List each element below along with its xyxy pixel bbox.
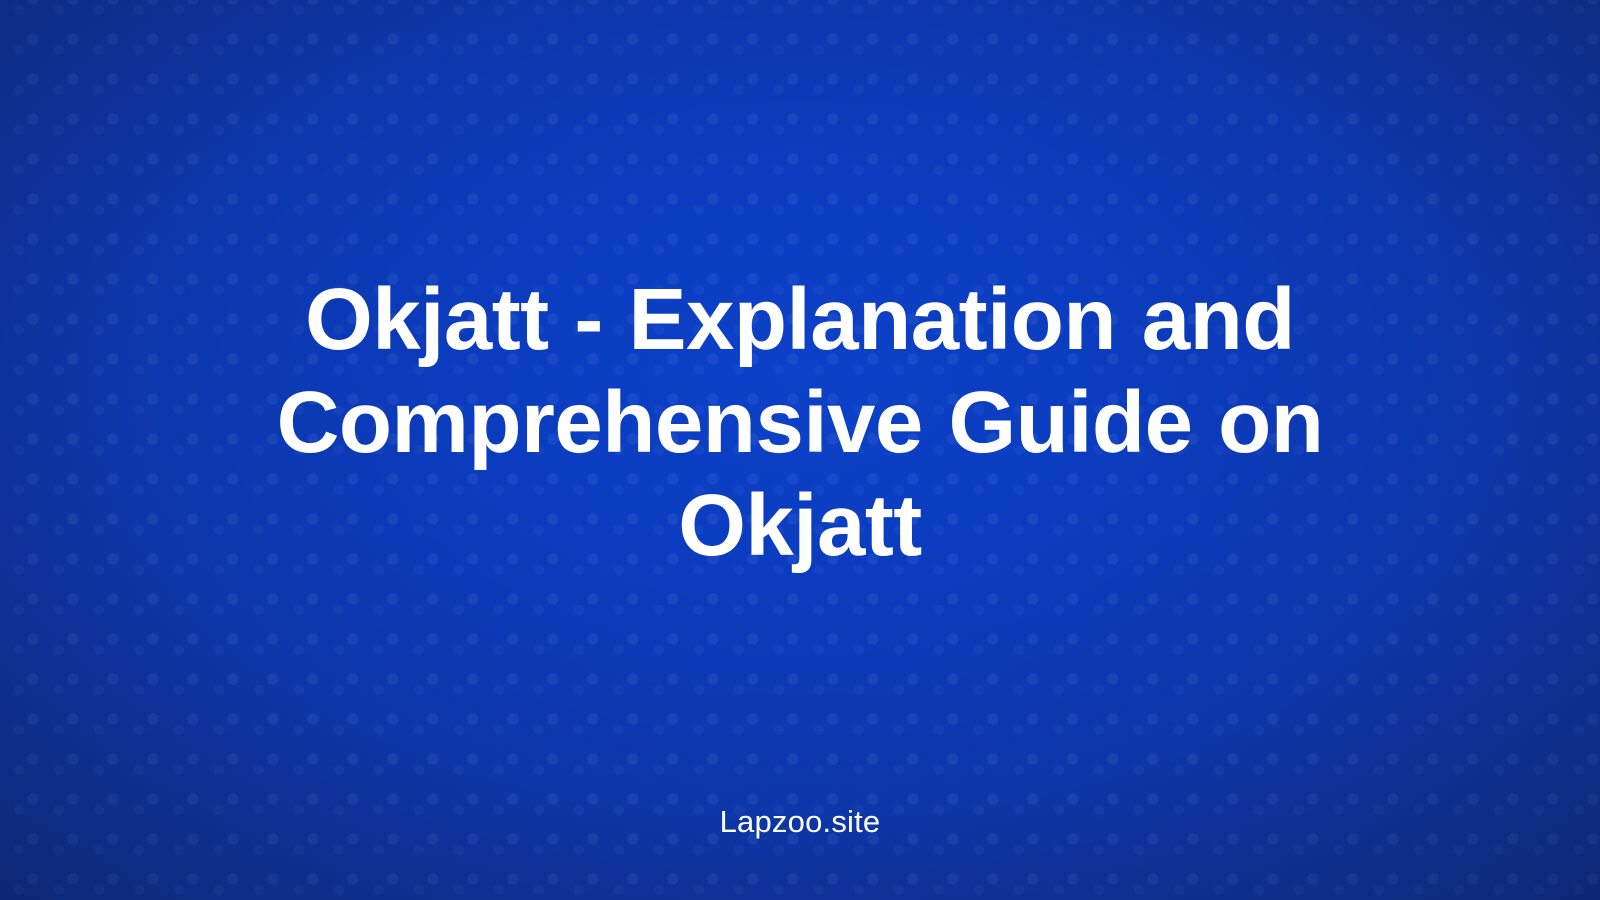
slide-content: Okjatt - Explanation and Comprehensive G…	[0, 0, 1600, 900]
title-slide: Okjatt - Explanation and Comprehensive G…	[0, 0, 1600, 900]
title-block: Okjatt - Explanation and Comprehensive G…	[150, 268, 1450, 577]
footer: Lapzoo.site	[0, 800, 1600, 844]
site-name: Lapzoo.site	[0, 800, 1600, 844]
page-title: Okjatt - Explanation and Comprehensive G…	[150, 268, 1450, 577]
